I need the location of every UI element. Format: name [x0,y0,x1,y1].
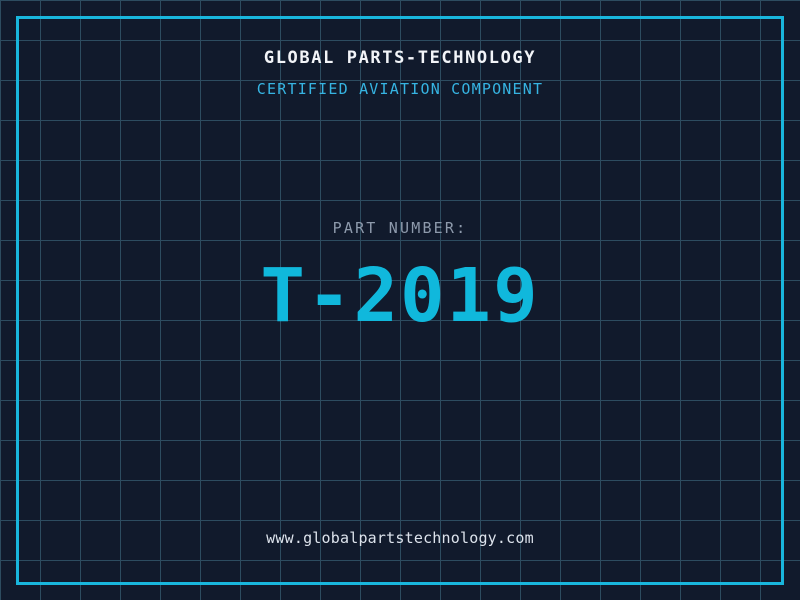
company-title: GLOBAL PARTS-TECHNOLOGY [0,48,800,68]
part-number-value: T-2019 [0,258,800,334]
card-content: GLOBAL PARTS-TECHNOLOGY CERTIFIED AVIATI… [0,0,800,600]
website-url: www.globalpartstechnology.com [0,529,800,547]
blueprint-part-card: GLOBAL PARTS-TECHNOLOGY CERTIFIED AVIATI… [0,0,800,600]
certification-subtitle: CERTIFIED AVIATION COMPONENT [0,80,800,98]
part-number-label: PART NUMBER: [0,219,800,237]
